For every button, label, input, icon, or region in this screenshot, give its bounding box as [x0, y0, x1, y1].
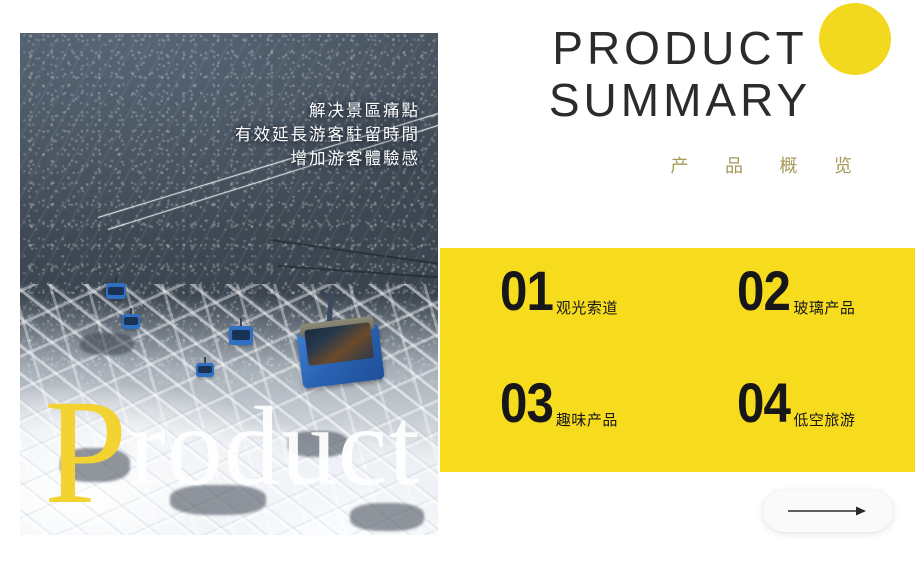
gondola-small [122, 314, 140, 329]
gondola-window [124, 317, 138, 325]
product-item-04[interactable]: 04 低空旅游 [678, 360, 915, 472]
product-item-03[interactable]: 03 趣味产品 [440, 360, 678, 472]
hero-photo: 解决景區痛點 有效延長游客駐留時間 增加游客體驗感 Product [20, 33, 438, 535]
next-slide-button[interactable] [763, 490, 893, 532]
gondola-arm [327, 293, 334, 323]
page-title: PRODUCT SUMMARY [470, 22, 890, 126]
title-line-2: SUMMARY [470, 74, 890, 126]
product-item-content: 03 趣味产品 [500, 376, 618, 430]
product-item-content: 02 玻璃产品 [737, 264, 855, 318]
product-item-number: 01 [500, 264, 553, 318]
product-item-label: 趣味产品 [556, 413, 618, 428]
gondola-hanger [240, 318, 242, 326]
photo-caption-line-2: 有效延長游客駐留時間 [235, 123, 420, 147]
photo-caption: 解决景區痛點 有效延長游客駐留時間 增加游客體驗感 [235, 99, 420, 171]
product-item-number: 02 [737, 264, 790, 318]
gondola-small [106, 283, 126, 299]
arrow-right-icon [786, 504, 870, 518]
gondola-window [198, 366, 212, 373]
gondola-window [108, 287, 123, 295]
page-subtitle: 产 品 概 览 [470, 152, 890, 178]
gondola-hanger [130, 308, 131, 315]
gondola-window [232, 330, 250, 340]
product-item-number: 04 [737, 376, 790, 430]
wordmark-initial: P [44, 369, 128, 535]
product-item-01[interactable]: 01 观光索道 [440, 248, 678, 360]
gondola-hanger [204, 357, 205, 363]
product-item-02[interactable]: 02 玻璃产品 [678, 248, 915, 360]
photo-caption-line-1: 解决景區痛點 [235, 99, 420, 123]
gondola-small [229, 326, 253, 345]
wordmark-rest: roduct [128, 385, 420, 509]
title-line-1: PRODUCT [470, 22, 890, 74]
slide-root: 解决景區痛點 有效延長游客駐留時間 增加游客體驗感 Product PRODUC… [0, 0, 915, 567]
gondola-hanger [115, 276, 117, 283]
product-item-label: 观光索道 [556, 301, 618, 316]
product-item-content: 04 低空旅游 [737, 376, 855, 430]
product-item-label: 玻璃产品 [793, 301, 855, 316]
gondola-small [196, 363, 214, 377]
product-item-number: 03 [500, 376, 553, 430]
photo-caption-line-3: 增加游客體驗感 [235, 147, 420, 171]
rock-shadow [80, 333, 134, 355]
product-summary-panel: 01 观光索道 02 玻璃产品 03 趣味产品 04 低空旅游 [440, 248, 915, 472]
product-item-content: 01 观光索道 [500, 264, 618, 318]
photo-wordmark: Product [44, 377, 421, 527]
product-item-grid: 01 观光索道 02 玻璃产品 03 趣味产品 04 低空旅游 [440, 248, 915, 472]
product-item-label: 低空旅游 [793, 413, 855, 428]
